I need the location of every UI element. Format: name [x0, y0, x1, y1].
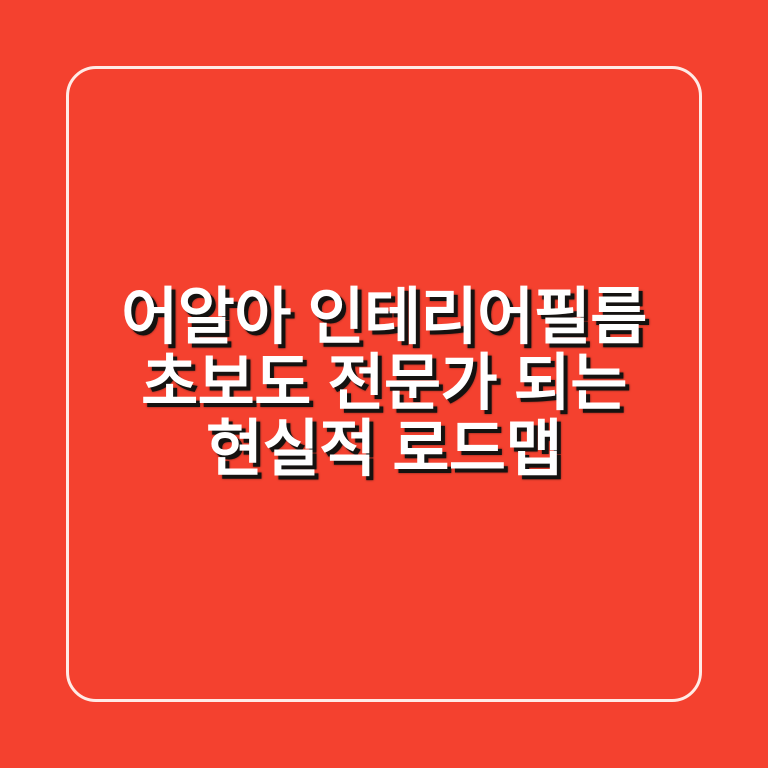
headline-line-2: 초보도 전문가 되는 — [60, 353, 708, 415]
headline-line-3: 현실적 로드맵 — [60, 419, 708, 481]
headline-block: 어알아 인테리어필름 초보도 전문가 되는 현실적 로드맵 — [0, 287, 768, 481]
poster-canvas: 어알아 인테리어필름 초보도 전문가 되는 현실적 로드맵 — [0, 0, 768, 768]
headline-line-1: 어알아 인테리어필름 — [60, 287, 708, 349]
